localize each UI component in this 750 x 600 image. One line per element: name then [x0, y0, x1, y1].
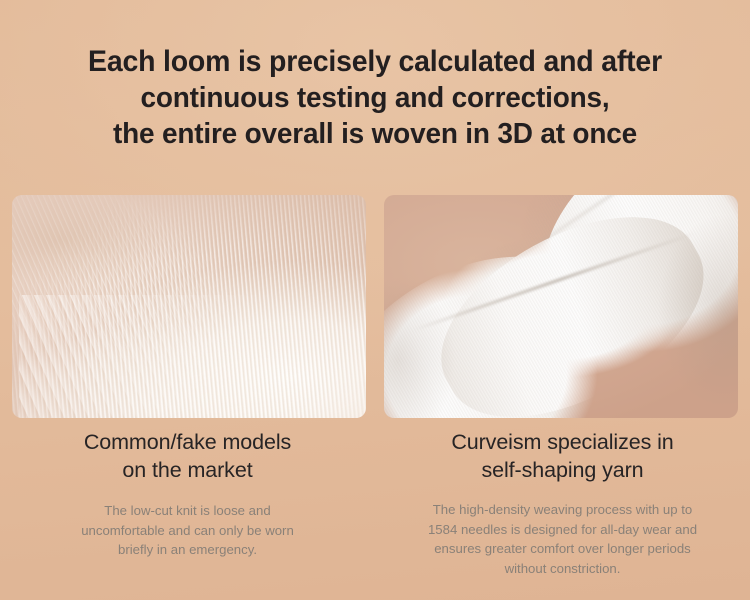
page-title: Each loom is precisely calculated and af…	[13, 44, 737, 152]
headline-line-3: the entire overall is woven in 3D at onc…	[13, 116, 737, 152]
right-caption-column: Curveism specializes in self-shaping yar…	[375, 428, 750, 578]
right-product-image	[384, 195, 738, 418]
left-caption-body: The low-cut knit is loose and uncomforta…	[26, 501, 349, 560]
headline-line-2: continuous testing and corrections,	[13, 80, 737, 116]
twisted-yarn-illustration	[384, 195, 738, 418]
headline-line-1: Each loom is precisely calculated and af…	[13, 44, 737, 80]
fiber-shadow	[12, 195, 366, 418]
right-caption-body-line-1: The high-density weaving process with up…	[401, 500, 724, 520]
right-caption-body-line-2: 1584 needles is designed for all-day wea…	[401, 520, 724, 540]
left-caption-title: Common/fake models on the market	[26, 428, 349, 484]
left-caption-body-line-2: uncomfortable and can only be worn	[26, 521, 349, 541]
comparison-panels	[12, 195, 738, 418]
promo-page: Each loom is precisely calculated and af…	[0, 0, 750, 600]
cord-edge-shading	[384, 195, 738, 418]
right-caption-title: Curveism specializes in self-shaping yar…	[401, 428, 724, 484]
comparison-captions: Common/fake models on the market The low…	[0, 428, 750, 578]
right-caption-body: The high-density weaving process with up…	[401, 500, 724, 578]
left-product-image	[12, 195, 366, 418]
loose-fiber-illustration	[12, 195, 366, 418]
left-caption-column: Common/fake models on the market The low…	[0, 428, 375, 578]
right-caption-title-line-2: self-shaping yarn	[401, 456, 724, 484]
left-caption-body-line-1: The low-cut knit is loose and	[26, 501, 349, 521]
right-caption-body-line-3: ensures greater comfort over longer peri…	[401, 539, 724, 559]
right-caption-body-line-4: without constriction.	[401, 559, 724, 579]
left-caption-body-line-3: briefly in an emergency.	[26, 540, 349, 560]
left-caption-title-line-2: on the market	[26, 456, 349, 484]
left-caption-title-line-1: Common/fake models	[26, 428, 349, 456]
right-caption-title-line-1: Curveism specializes in	[401, 428, 724, 456]
